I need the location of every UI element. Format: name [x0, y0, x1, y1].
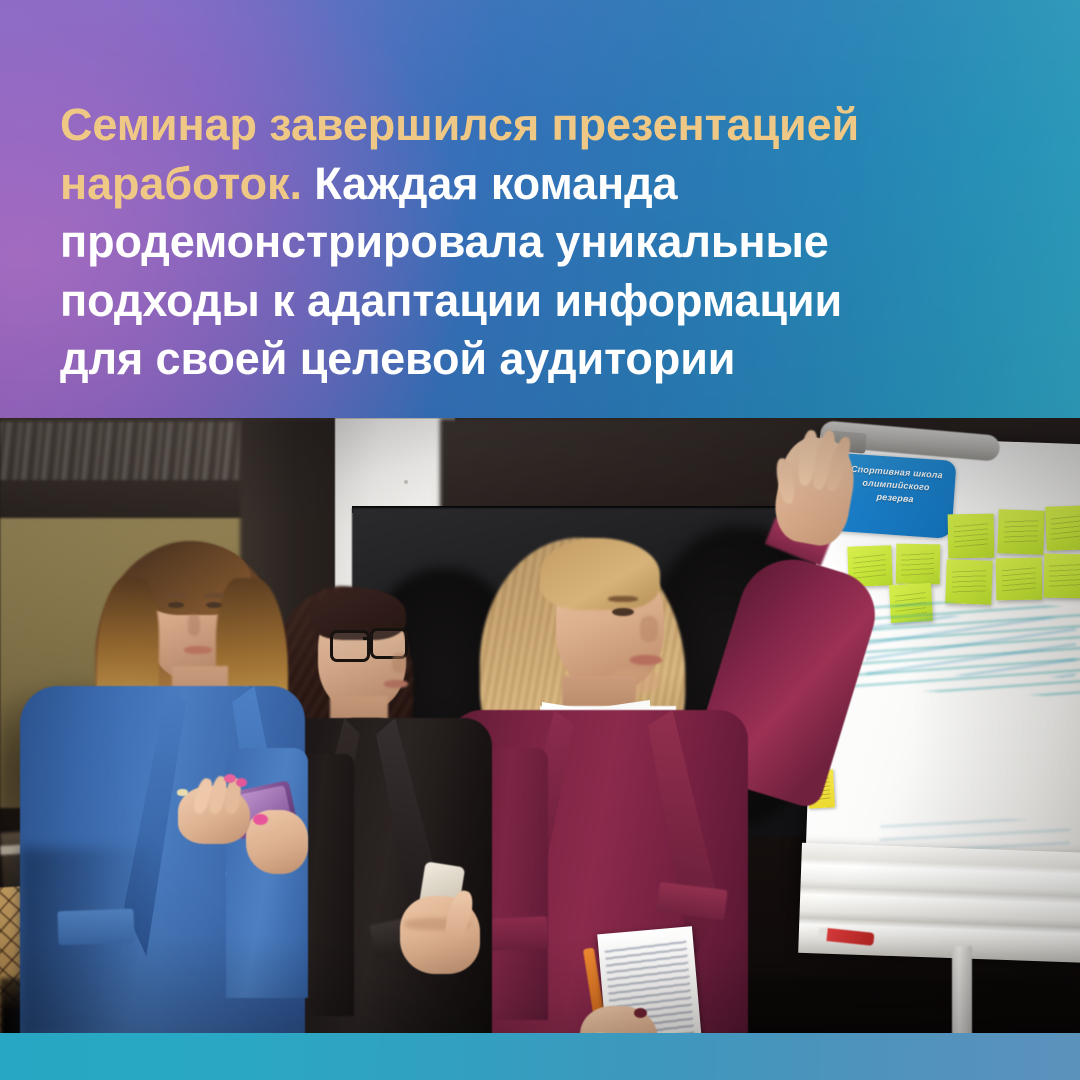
person-blue-nose: [188, 614, 200, 636]
footer-bar: [0, 1033, 1080, 1080]
person-burgundy-nose: [640, 616, 658, 642]
person-burgundy-lips: [630, 655, 662, 665]
person-blue-eyebrow-right: [204, 593, 224, 598]
person-burgundy-nail: [634, 1008, 647, 1018]
card-line-3: резерва: [876, 492, 914, 505]
card-line-2: олимпийского: [862, 478, 930, 493]
person-blue-lips: [184, 646, 212, 654]
person-black-nose: [392, 653, 406, 673]
flipchart-page-stack: [798, 843, 1080, 963]
flipchart-handwriting-lower: [865, 614, 1076, 678]
eyeglasses-lens-left: [330, 630, 370, 662]
person-blue-nail: [236, 778, 247, 787]
column-mark: [404, 480, 408, 484]
header-gradient-band: Семинар завершился презентацией наработо…: [0, 0, 1080, 418]
person-blue-nail: [224, 774, 236, 783]
sticky-note: [997, 509, 1045, 555]
person-blue-pocket: [57, 909, 134, 946]
person-burgundy-eye: [612, 608, 634, 616]
sticky-note: [945, 559, 993, 605]
social-card: Семинар завершился презентацией наработо…: [0, 0, 1080, 1080]
person-blue-nail: [253, 814, 268, 825]
person-burgundy-bangs: [540, 538, 660, 610]
sticky-note: [948, 514, 995, 559]
sticky-note: [896, 544, 941, 585]
person-blue-ring: [177, 789, 188, 796]
page-title: Семинар завершился презентацией наработо…: [60, 96, 920, 389]
eyeglasses-bridge: [363, 637, 372, 640]
sticky-note: [1045, 505, 1080, 551]
person-black-lips: [384, 680, 408, 688]
person-blue-eyebrow-left: [166, 593, 186, 598]
seminar-photo: Спортивная школаолимпийскогорезерва: [0, 418, 1080, 1033]
person-burgundy-eyebrow: [608, 596, 638, 602]
sticky-note: [996, 558, 1043, 601]
sticky-note: [1044, 554, 1080, 599]
person-blue-eye-right: [206, 602, 222, 608]
flipchart-stand-leg: [952, 946, 972, 1033]
person-blue-eye-left: [168, 602, 184, 608]
flipchart-card-text: Спортивная школаолимпийскогорезерва: [841, 462, 951, 508]
